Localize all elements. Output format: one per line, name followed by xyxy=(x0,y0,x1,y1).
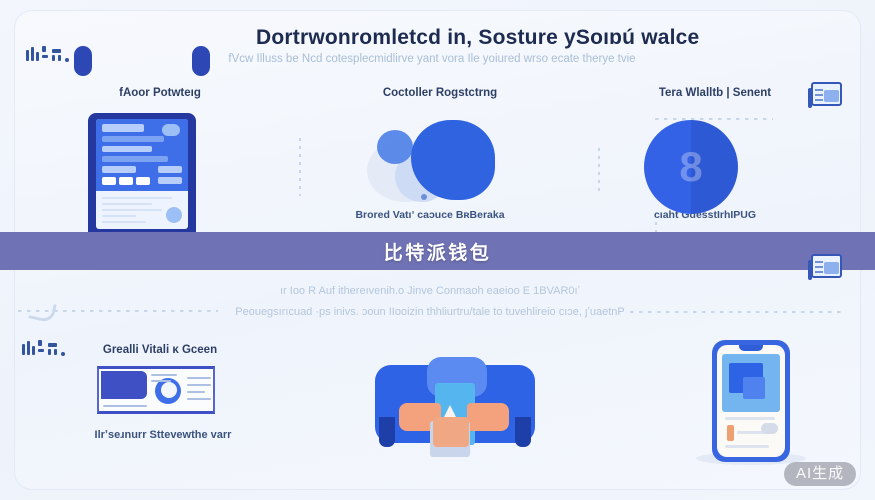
scattered-glyph-icon-secondary xyxy=(20,338,76,364)
scattered-glyph-icon xyxy=(24,44,80,70)
cloud-blob-illustration xyxy=(355,112,515,204)
page-title: Dortrwonromletcd in, Sosture ySoıɒú walc… xyxy=(256,26,656,50)
bottom-card-caption-1: Ilrʼseɹnurr Sttevewthe varr xyxy=(68,429,258,441)
tablet-side-tab-left xyxy=(74,46,92,76)
bottom-card-label-1: Grealli Vitali ᴋ Gceen xyxy=(85,344,235,356)
dotted-connector-g xyxy=(630,311,845,313)
ai-watermark-badge: AI生成 xyxy=(784,462,856,486)
chart-card-illustration xyxy=(97,366,215,414)
column-label-3: Tera Wlalltb | Senent xyxy=(615,87,815,99)
phone-illustration xyxy=(712,340,790,462)
screenshot-stage: Dortrwonromletcd in, Sosture ySoıɒú walc… xyxy=(0,0,875,500)
column-label-1: fAoor Potwteıg xyxy=(60,87,260,99)
sofa-people-illustration xyxy=(375,355,535,455)
column-caption-2: Brored Vatıʼ caɔuce BʀBeraka xyxy=(320,209,540,221)
dotted-connector-b xyxy=(598,148,600,196)
banner-title: 比特派钱包 xyxy=(384,238,492,265)
window-browser-icon-secondary xyxy=(808,254,842,280)
column-label-2: Coctoller Rogstctrng xyxy=(340,87,540,99)
tablet-side-tab-right xyxy=(192,46,210,76)
page-subtitle: fVcw Illuss be Ncd cotesplecmidlirve yan… xyxy=(182,53,682,65)
circle-badge-glyph: 8 xyxy=(644,120,738,214)
dotted-connector-a xyxy=(299,138,301,196)
title-banner: 比特派钱包 xyxy=(0,232,875,270)
tablet-illustration xyxy=(88,113,196,241)
bottom-text-line-1: ır Ioo R Auf ithereıvenih.o Jinve Conmao… xyxy=(230,285,630,297)
circle-badge-illustration: 8 xyxy=(644,120,738,214)
bottom-text-line-2: Peouegsırıcuad ·ps inivs. ɔoun IIooizin … xyxy=(205,306,655,318)
